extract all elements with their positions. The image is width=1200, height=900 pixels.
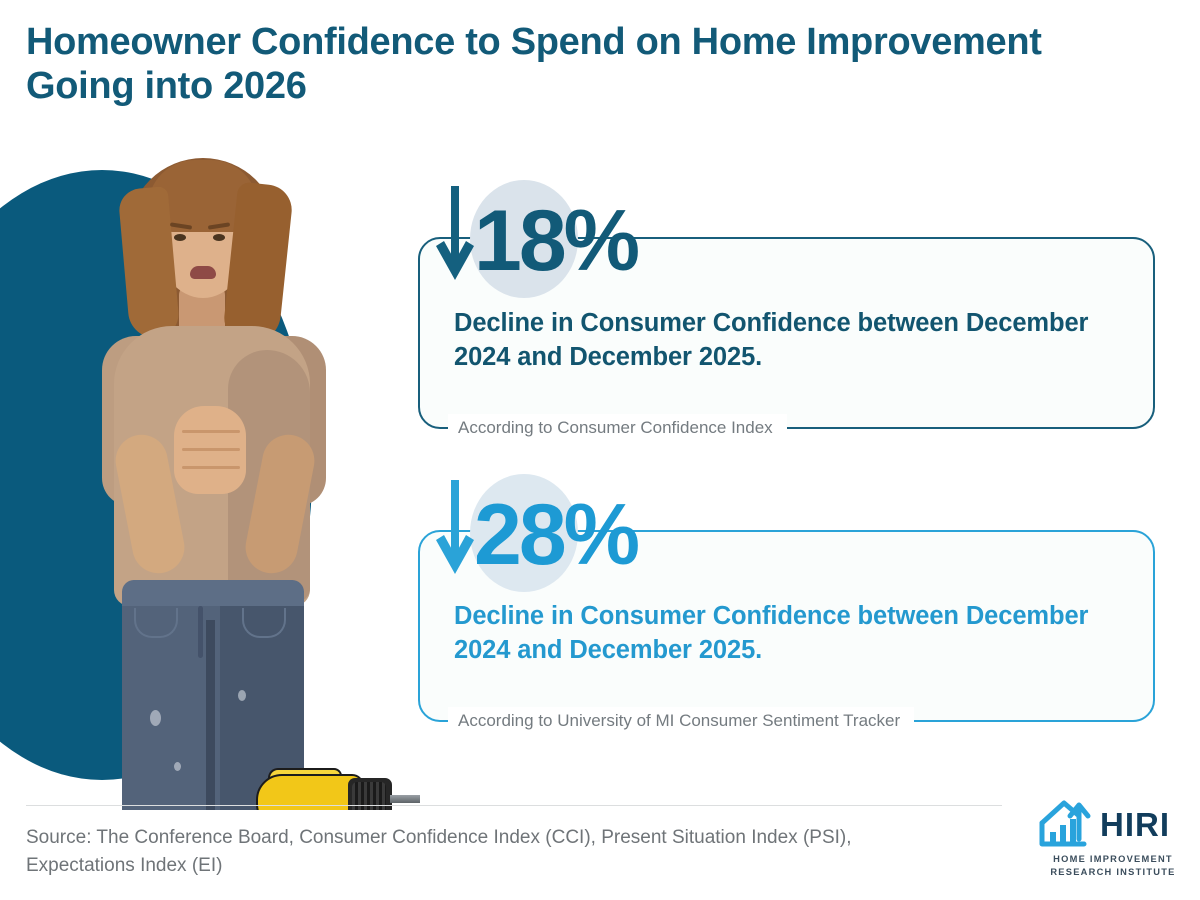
logo-tagline-line2: RESEARCH INSTITUTE bbox=[1038, 866, 1188, 879]
footer-divider bbox=[26, 805, 1002, 806]
logo-tagline: HOME IMPROVEMENT RESEARCH INSTITUTE bbox=[1038, 853, 1188, 878]
figure-jeans-fly bbox=[198, 606, 203, 658]
stat-attribution: According to University of MI Consumer S… bbox=[448, 707, 914, 735]
figure-paint-speck bbox=[174, 762, 181, 771]
stat-headline-group: 18% bbox=[434, 178, 637, 298]
house-growth-chart-icon bbox=[1038, 799, 1094, 849]
figure-jeans-waistband bbox=[122, 580, 304, 606]
arrow-down-icon bbox=[434, 184, 478, 292]
figure-mouth bbox=[190, 266, 216, 279]
homeowner-figure bbox=[78, 150, 358, 810]
figure-finger-line bbox=[182, 448, 240, 451]
stat-value: 28% bbox=[474, 492, 637, 578]
infographic-page: Homeowner Confidence to Spend on Home Im… bbox=[0, 0, 1200, 900]
stat-headline-group: 28% bbox=[434, 472, 637, 592]
figure-jeans-pocket-right bbox=[242, 608, 286, 638]
source-note: Source: The Conference Board, Consumer C… bbox=[26, 824, 926, 879]
stat-description: Decline in Consumer Confidence between D… bbox=[454, 600, 1127, 667]
arrow-down-icon bbox=[434, 478, 478, 586]
figure-paint-speck bbox=[150, 710, 161, 726]
page-title: Homeowner Confidence to Spend on Home Im… bbox=[26, 20, 1076, 108]
stat-value: 18% bbox=[474, 198, 637, 284]
figure-finger-line bbox=[182, 466, 240, 469]
logo-wordmark: HIRI bbox=[1100, 808, 1170, 841]
figure-finger-line bbox=[182, 430, 240, 433]
cordless-drill-icon bbox=[242, 762, 420, 810]
figure-eye-right bbox=[213, 234, 225, 241]
figure-jeans-pocket-left bbox=[134, 608, 178, 638]
figure-jeans-inseam bbox=[206, 620, 215, 810]
logo-tagline-line1: HOME IMPROVEMENT bbox=[1038, 853, 1188, 866]
drill-bit bbox=[390, 795, 420, 803]
figure-eye-left bbox=[174, 234, 186, 241]
hiri-logo: HIRI HOME IMPROVEMENT RESEARCH INSTITUTE bbox=[1038, 798, 1188, 880]
stat-attribution: According to Consumer Confidence Index bbox=[448, 414, 787, 442]
figure-paint-speck bbox=[238, 690, 246, 701]
hero-illustration bbox=[0, 150, 420, 810]
stat-description: Decline in Consumer Confidence between D… bbox=[454, 307, 1127, 374]
